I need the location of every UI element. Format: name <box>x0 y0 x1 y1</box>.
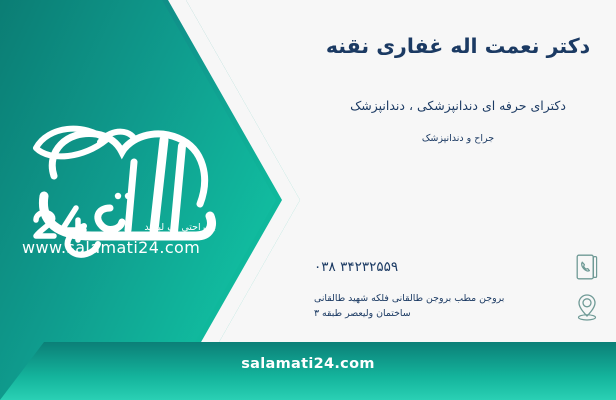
location-pin-icon <box>570 288 604 326</box>
doctor-degree: دکترای حرفه ای دندانپزشکی ، دندانپزشک <box>316 97 600 115</box>
doctor-specialty: جراح و دندانپزشک <box>316 132 600 145</box>
phonebook-icon <box>570 248 604 286</box>
logo-website[interactable]: www.salamati24.com <box>22 238 200 257</box>
address-row[interactable]: بروجن مطب بروجن طالقانی فلکه شهید طالقان… <box>312 288 604 326</box>
details-panel: دکتر نعمت اله غفاری نقنه دکترای حرفه ای … <box>300 0 616 400</box>
footer-website[interactable]: salamati24.com <box>0 356 616 372</box>
footer: salamati24.com <box>0 342 616 400</box>
phone-number: ۳۴۲۳۲۵۵۹ ۰۳۸ <box>312 259 570 275</box>
business-card: به راحتی یک لبخند www.salamati24.com دکت… <box>0 0 616 400</box>
doctor-name: دکتر نعمت اله غفاری نقنه <box>316 33 600 60</box>
brand-panel: به راحتی یک لبخند www.salamati24.com <box>0 0 300 400</box>
salamati24-logo: به راحتی یک لبخند www.salamati24.com <box>14 104 230 274</box>
phone-row[interactable]: ۳۴۲۳۲۵۵۹ ۰۳۸ <box>312 248 604 286</box>
address-line-2: ساختمان ولیعصر طبقه ۳ <box>314 307 570 322</box>
address-line-1: بروجن مطب بروجن طالقانی فلکه شهید طالقان… <box>314 292 570 307</box>
logo-tagline: به راحتی یک لبخند <box>144 222 216 233</box>
